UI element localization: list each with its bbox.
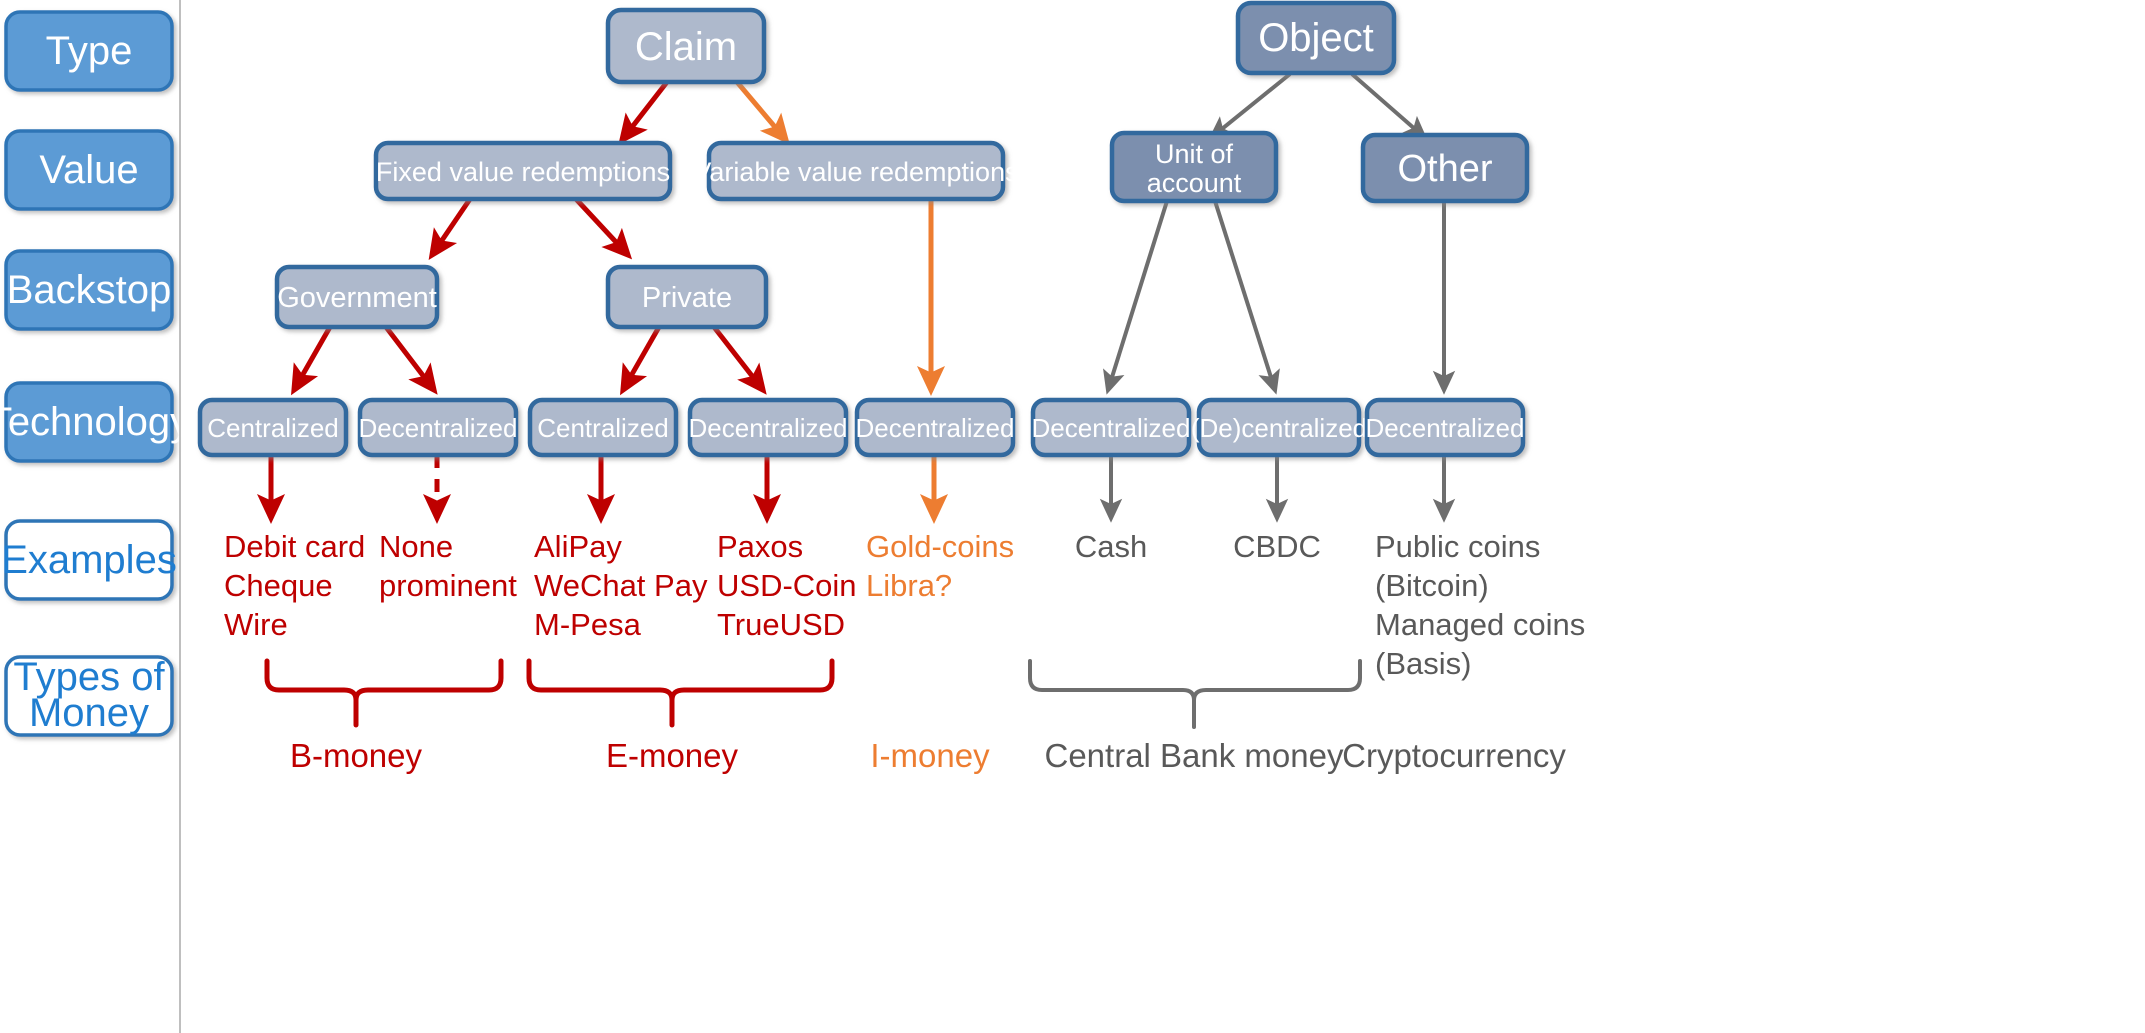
node-government[interactable]: Government [277,267,437,327]
example8-line4: (Basis) [1375,646,1471,681]
connector-government-to-centralized [294,327,330,390]
example8-line1: Public coins [1375,529,1540,564]
node-tech4-label: Decentralized [689,413,848,443]
node-unit-of-account[interactable]: Unit of account [1112,133,1276,201]
row-label-column: Type Value Backstop Technology Examples … [0,0,190,1033]
node-tech-decentralized-var[interactable]: Decentralized [856,400,1015,455]
node-other-label: Other [1397,148,1492,190]
connector-object-to-other [1352,74,1424,137]
row-label-technology[interactable]: Technology [0,383,190,461]
node-private[interactable]: Private [608,267,766,327]
examples-group-none-prominent: None prominent [379,529,517,603]
connector-unit-to-decentralized [1108,201,1167,390]
money-type-i-money: I-money [870,737,990,774]
example4-line3: TrueUSD [717,607,845,642]
node-government-label: Government [277,282,437,314]
node-object[interactable]: Object [1238,3,1394,73]
node-tech-decentralized-priv[interactable]: Decentralized [689,400,848,455]
node-tech-de-centralized-unit[interactable]: (De)centralized [1191,400,1367,455]
node-tech7-label: (De)centralized [1191,413,1367,443]
row-label-examples[interactable]: Examples [1,521,177,599]
examples-group-paxos: Paxos USD-Coin TrueUSD [717,529,857,642]
examples-group-public-coins: Public coins (Bitcoin) Managed coins (Ba… [1375,529,1585,681]
example4-line2: USD-Coin [717,568,857,603]
money-type-central-bank-money: Central Bank money [1045,737,1344,774]
node-tech1-label: Centralized [207,413,339,443]
examples-group-cash: Cash [1075,529,1147,564]
node-tech8-label: Decentralized [1366,413,1525,443]
example3-line3: M-Pesa [534,607,642,642]
row-label-technology-text: Technology [0,400,190,444]
node-tech2-label: Decentralized [359,413,518,443]
row-label-types-of-money[interactable]: Types of Money [6,655,172,735]
connector-object-to-unit [1212,74,1290,137]
node-tech-centralized-priv[interactable]: Centralized [530,400,676,455]
node-claim[interactable]: Claim [608,10,764,82]
node-tech-decentralized-unit[interactable]: Decentralized [1032,400,1191,455]
example1-line3: Wire [224,607,288,642]
brace-e-money [529,661,832,725]
node-fixed-value-redemptions[interactable]: Fixed value redemptions [376,143,670,199]
connector-government-to-decentralized [386,327,434,390]
connector-private-to-decentralized [714,327,763,390]
money-type-cryptocurrency: Cryptocurrency [1342,737,1566,774]
node-tech-decentralized-other[interactable]: Decentralized [1366,400,1525,455]
row-label-type[interactable]: Type [6,12,172,90]
row-label-value-text: Value [39,148,138,192]
node-claim-label: Claim [635,25,737,69]
money-type-e-money: E-money [606,737,739,774]
connector-unit-to-decentralized-2 [1215,201,1275,390]
example2-line2: prominent [379,568,517,603]
example6-line1: Cash [1075,529,1147,564]
example8-line3: Managed coins [1375,607,1585,642]
example1-line2: Cheque [224,568,333,603]
connector-fixed-to-government [432,199,470,255]
node-tech-decentralized-gov[interactable]: Decentralized [359,400,518,455]
money-taxonomy-diagram: Type Value Backstop Technology Examples … [0,0,2145,1033]
row-label-type-text: Type [46,29,133,73]
connector-claim-to-variable [737,82,786,140]
example7-line1: CBDC [1233,529,1321,564]
row-label-backstop[interactable]: Backstop [6,251,172,329]
node-variable-value-redemptions[interactable]: Variable value redemptions [693,143,1018,199]
brace-b-money [267,661,501,725]
node-tech3-label: Centralized [537,413,669,443]
node-variable-label: Variable value redemptions [693,157,1018,187]
node-unit-line1: Unit of [1155,139,1234,169]
node-other[interactable]: Other [1363,135,1527,201]
diagram-canvas: Type Value Backstop Technology Examples … [0,0,2145,1033]
node-object-label: Object [1258,16,1374,60]
row-label-types-line2: Money [29,691,149,735]
examples-group-debit-card: Debit card Cheque Wire [224,529,365,642]
examples-group-cbdc: CBDC [1233,529,1321,564]
example5-line2: Libra? [866,568,952,603]
examples-group-alipay: AliPay WeChat Pay M-Pesa [534,529,708,642]
example3-line2: WeChat Pay [534,568,708,603]
money-type-b-money: B-money [290,737,423,774]
node-tech6-label: Decentralized [1032,413,1191,443]
row-label-value[interactable]: Value [6,131,172,209]
example4-line1: Paxos [717,529,803,564]
connector-private-to-centralized [623,327,659,390]
brace-central-bank-money [1030,661,1360,727]
node-tech-centralized-gov[interactable]: Centralized [200,400,346,455]
row-label-examples-text: Examples [1,538,177,582]
connector-fixed-to-private [576,199,628,255]
connector-claim-to-fixed [622,82,667,140]
example3-line1: AliPay [534,529,622,564]
example2-line1: None [379,529,453,564]
node-unit-line2: account [1147,168,1242,198]
example1-line1: Debit card [224,529,365,564]
example5-line1: Gold-coins [866,529,1014,564]
node-private-label: Private [642,282,732,314]
node-tech5-label: Decentralized [856,413,1015,443]
examples-group-gold-coins: Gold-coins Libra? [866,529,1014,603]
node-fixed-label: Fixed value redemptions [376,157,670,187]
row-label-backstop-text: Backstop [7,268,172,312]
example8-line2: (Bitcoin) [1375,568,1489,603]
